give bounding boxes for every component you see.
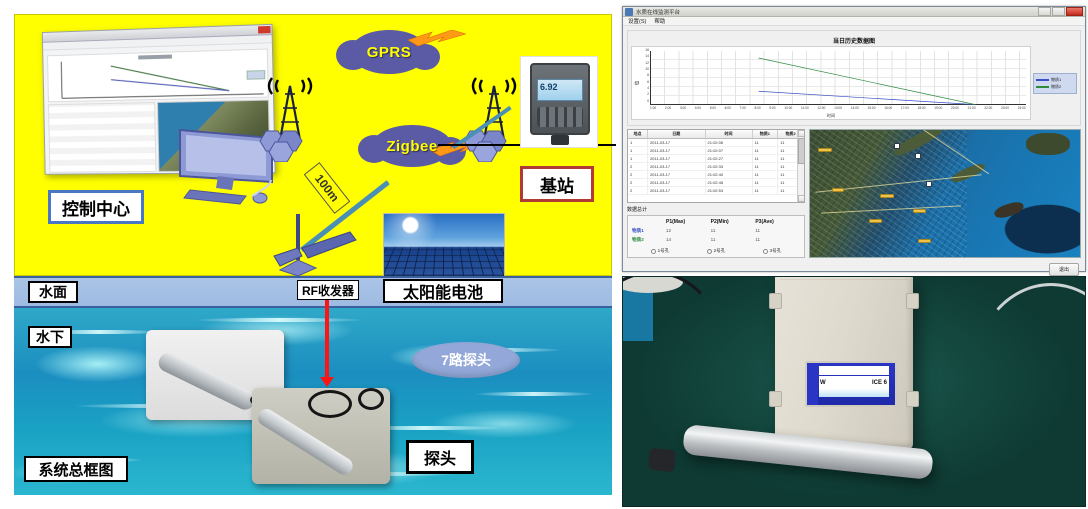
table-cell: 2011-03-17	[647, 179, 705, 187]
close-button[interactable]	[1066, 7, 1083, 16]
menu-bar[interactable]: 设置(S) 帮助	[623, 17, 1085, 26]
hinge-left-top	[769, 293, 782, 309]
grey-cable	[971, 283, 1086, 473]
chart-xtick: 17:00	[901, 106, 909, 113]
summary-header: P1(Max)	[666, 219, 711, 225]
label-underwater: 水下	[28, 326, 72, 348]
table-cell: 11	[752, 171, 778, 179]
map-marker-2[interactable]	[915, 153, 921, 159]
chart-xtick: 14:00	[851, 106, 859, 113]
hinge-right-bottom	[906, 391, 919, 407]
photo-field-device: W ICE 6	[622, 276, 1086, 507]
summary-value: 11	[755, 228, 800, 234]
table-cell: 11	[752, 155, 778, 163]
exit-button[interactable]: 退出	[1049, 263, 1079, 276]
table-cell: 2	[628, 179, 647, 187]
window-title: 水质在线监测平台	[636, 8, 680, 16]
summary-value: 11	[711, 237, 756, 243]
table-cell: 21:02:07	[705, 147, 752, 155]
lcd-text-right: ICE 6	[872, 380, 887, 386]
photo-probe-2	[252, 388, 390, 484]
scrollbar-thumb[interactable]	[798, 138, 805, 164]
chart-area: 值 1614121086420 1:002:003:004:005:006:00…	[631, 46, 1077, 120]
legend-label: 物质1	[1051, 77, 1061, 83]
table-row[interactable]: 12011-03-1721:02:271111	[628, 155, 804, 163]
photo-water-quality-controller: 6.92	[520, 56, 598, 148]
table-row[interactable]: 12011-03-1721:02:071111	[628, 147, 804, 155]
label-water-surface: 水面	[28, 281, 78, 303]
chart-xtick: 16:00	[884, 106, 892, 113]
table-header-row: 地点日期时间物质1物质2	[628, 130, 804, 139]
table-cell: 21:02:53	[705, 187, 752, 195]
solar-panel-grid	[383, 247, 505, 276]
summary-title: 数据总计	[627, 206, 805, 213]
table-row[interactable]: 22011-03-1721:02:451111	[628, 179, 804, 187]
legend-swatch	[1036, 86, 1049, 88]
legend-row-1: 物质1	[1036, 77, 1074, 83]
footer-row: 退出	[627, 261, 1081, 276]
title-bar[interactable]: 水质在线监测平台	[623, 7, 1085, 17]
menu-item-help[interactable]: 帮助	[654, 17, 665, 25]
app-icon	[625, 8, 633, 16]
legend-swatch	[1036, 79, 1049, 81]
table-cell: 2011-03-17	[647, 163, 705, 171]
chart-panel: 当日历史数据图 值 1614121086420 1:002:003:004:00…	[627, 30, 1081, 126]
radio-option-2[interactable]: 2号孔	[707, 248, 726, 254]
table-cell: 1	[628, 147, 647, 155]
mini-data-table	[48, 102, 156, 173]
chart-xtick: 1:00	[650, 106, 656, 113]
label-base-station: 基站	[520, 166, 594, 202]
lightning-bolt-icon	[408, 30, 466, 48]
summary-header: P2(Min)	[711, 219, 756, 225]
data-column: 地点日期时间物质1物质2 12011-03-1721:02:0611111201…	[627, 129, 805, 258]
app-body: 当日历史数据图 值 1614121086420 1:002:003:004:00…	[623, 26, 1085, 280]
table-cell: 2011-03-17	[647, 139, 705, 147]
table-cell: 2011-03-17	[647, 171, 705, 179]
summary-panel: P1(Max)P2(Min)P3(Ave)物质1121111物质2141111 …	[627, 215, 805, 258]
hole-selector-group[interactable]: 1号孔2号孔3号孔	[632, 248, 800, 254]
chart-xtick: 24:00	[1018, 106, 1026, 113]
radio-dot-icon[interactable]	[763, 249, 768, 254]
photo-solar-panels	[383, 213, 505, 277]
radio-label: 2号孔	[714, 248, 726, 254]
table-row[interactable]: 22011-03-1721:02:331111	[628, 163, 804, 171]
hinge-right-top	[906, 293, 919, 309]
map-marker-3[interactable]	[926, 181, 932, 187]
label-control-center: 控制中心	[48, 190, 144, 224]
cloud-zigbee-label: Zigbee	[386, 138, 437, 155]
table-cell: 2011-03-17	[647, 147, 705, 155]
lower-section: 地点日期时间物质1物质2 12011-03-1721:02:0611111201…	[627, 129, 1081, 258]
menu-item-settings[interactable]: 设置(S)	[628, 17, 646, 25]
summary-header	[632, 219, 666, 225]
mini-chart	[47, 49, 269, 103]
satellite-map[interactable]	[809, 129, 1081, 258]
table-cell: 2011-03-17	[647, 187, 705, 195]
chart-xtick: 22:00	[984, 106, 992, 113]
table-row[interactable]: 12011-03-1721:02:061111	[628, 139, 804, 147]
maximize-button[interactable]	[1052, 7, 1065, 16]
table-cell: 1	[628, 139, 647, 147]
table-col-header[interactable]: 时间	[705, 130, 752, 139]
table-col-header[interactable]: 地点	[628, 130, 647, 139]
lcd-text-left: W	[820, 380, 826, 386]
hex-coverage-left-icon	[258, 128, 322, 162]
chart-xtick: 11:00	[801, 106, 809, 113]
chart-xtick: 13:00	[834, 106, 842, 113]
legend-label: 物质2	[1051, 84, 1061, 90]
table-col-header[interactable]: 日期	[647, 130, 705, 139]
chart-xtick: 12:00	[817, 106, 825, 113]
table-row[interactable]: 22011-03-1721:02:531111	[628, 187, 804, 195]
map-marker-1[interactable]	[894, 143, 900, 149]
chart-xticks: 1:002:003:004:005:006:007:008:009:0010:0…	[650, 106, 1026, 113]
water-quality-app-window: 水质在线监测平台 设置(S) 帮助 当日历史数据图 值 161412108642…	[622, 6, 1086, 272]
label-seven-channel-probe: 7路探头	[412, 342, 520, 378]
table-cell: 21:02:27	[705, 155, 752, 163]
device-reading: 6.92	[540, 82, 558, 92]
enclosure-box: W ICE 6	[775, 276, 913, 449]
table-cell: 1	[628, 155, 647, 163]
table-cell: 2	[628, 187, 647, 195]
summary-value: 11	[755, 237, 800, 243]
chart-legend: 物质1物质2	[1033, 73, 1077, 94]
summary-header: P3(Ave)	[755, 219, 800, 225]
data-table: 地点日期时间物质1物质2 12011-03-1721:02:0611111201…	[628, 130, 804, 195]
table-cell: 21:02:45	[705, 179, 752, 187]
lcd-screen[interactable]: W ICE 6	[805, 361, 897, 407]
hinge-left-bottom	[769, 391, 782, 407]
radio-label: 1号孔	[658, 248, 670, 254]
chart-title: 当日历史数据图	[631, 36, 1077, 45]
table-cell: 21:02:40	[705, 171, 752, 179]
chart-xtick: 19:00	[934, 106, 942, 113]
chart-xtick: 6:00	[725, 106, 731, 113]
scroll-up-arrow-icon[interactable]	[798, 130, 805, 137]
chart-xtick: 8:00	[754, 106, 760, 113]
chart-xlabel: 时间	[632, 113, 1030, 119]
table-cell: 21:02:06	[705, 139, 752, 147]
chart-xtick: 10:00	[784, 106, 792, 113]
chart-xtick: 2:00	[665, 106, 671, 113]
radio-label: 3号孔	[770, 248, 782, 254]
chart-xtick: 23:00	[1001, 106, 1009, 113]
table-cell: 11	[752, 139, 778, 147]
chart-xtick: 7:00	[740, 106, 746, 113]
table-cell: 2	[628, 163, 647, 171]
label-rf-transceiver: RF收发器	[297, 280, 359, 300]
scroll-down-arrow-icon[interactable]	[798, 195, 805, 202]
black-cable	[622, 276, 723, 421]
table-cell: 11	[752, 163, 778, 171]
summary-value: 11	[711, 228, 756, 234]
system-diagram-panel: 控制中心 GPRS Zigbee	[0, 0, 620, 509]
cloud-gprs-label: GPRS	[367, 44, 412, 61]
table-cell: 11	[752, 179, 778, 187]
chart-xtick: 20:00	[951, 106, 959, 113]
radio-dot-icon[interactable]	[651, 249, 656, 254]
radio-dot-icon[interactable]	[707, 249, 712, 254]
chart-xtick: 21:00	[968, 106, 976, 113]
table-cell: 21:02:33	[705, 163, 752, 171]
chart-xtick: 15:00	[868, 106, 876, 113]
summary-series-name-2: 物质2	[632, 237, 666, 243]
legend-row-2: 物质2	[1036, 84, 1074, 90]
table-row[interactable]: 22011-03-1721:02:401111	[628, 171, 804, 179]
table-cell: 2	[628, 171, 647, 179]
radio-option-1[interactable]: 1号孔	[651, 248, 670, 254]
chart-xtick: 4:00	[695, 106, 701, 113]
table-cell: 11	[752, 187, 778, 195]
label-solar-battery: 太阳能电池	[383, 279, 503, 303]
table-cell: 2011-03-17	[647, 155, 705, 163]
label-probe: 探头	[406, 440, 474, 474]
table-body: 12011-03-1721:02:06111112011-03-1721:02:…	[628, 139, 804, 195]
rf-link-arrow	[325, 300, 329, 378]
chart-xtick: 3:00	[680, 106, 686, 113]
summary-series-name-1: 物质1	[632, 228, 666, 234]
chart-plot: 值 1614121086420 1:002:003:004:005:006:00…	[631, 46, 1031, 120]
label-system-diagram: 系统总框图	[24, 456, 128, 482]
radio-option-3[interactable]: 3号孔	[763, 248, 782, 254]
minimize-button[interactable]	[1038, 7, 1051, 16]
summary-value: 12	[666, 228, 711, 234]
chart-xtick: 5:00	[710, 106, 716, 113]
buoy-rf-mast-icon	[272, 214, 358, 278]
table-scrollbar[interactable]	[797, 130, 804, 202]
mini-close-icon	[258, 26, 271, 34]
lcd-sidebar	[807, 363, 818, 405]
table-col-header[interactable]: 物质1	[752, 130, 778, 139]
screenshot-root: 控制中心 GPRS Zigbee	[0, 0, 1088, 509]
data-table-wrapper[interactable]: 地点日期时间物质1物质2 12011-03-1721:02:0611111201…	[627, 129, 805, 203]
summary-value: 14	[666, 237, 711, 243]
chart-xtick: 9:00	[769, 106, 775, 113]
table-cell: 11	[752, 147, 778, 155]
chart-xtick: 18:00	[918, 106, 926, 113]
probe-connector-cap	[648, 448, 676, 473]
lcd-header	[819, 366, 889, 375]
summary-grid: P1(Max)P2(Min)P3(Ave)物质1121111物质2141111	[632, 219, 800, 243]
window-controls[interactable]	[1038, 7, 1083, 16]
